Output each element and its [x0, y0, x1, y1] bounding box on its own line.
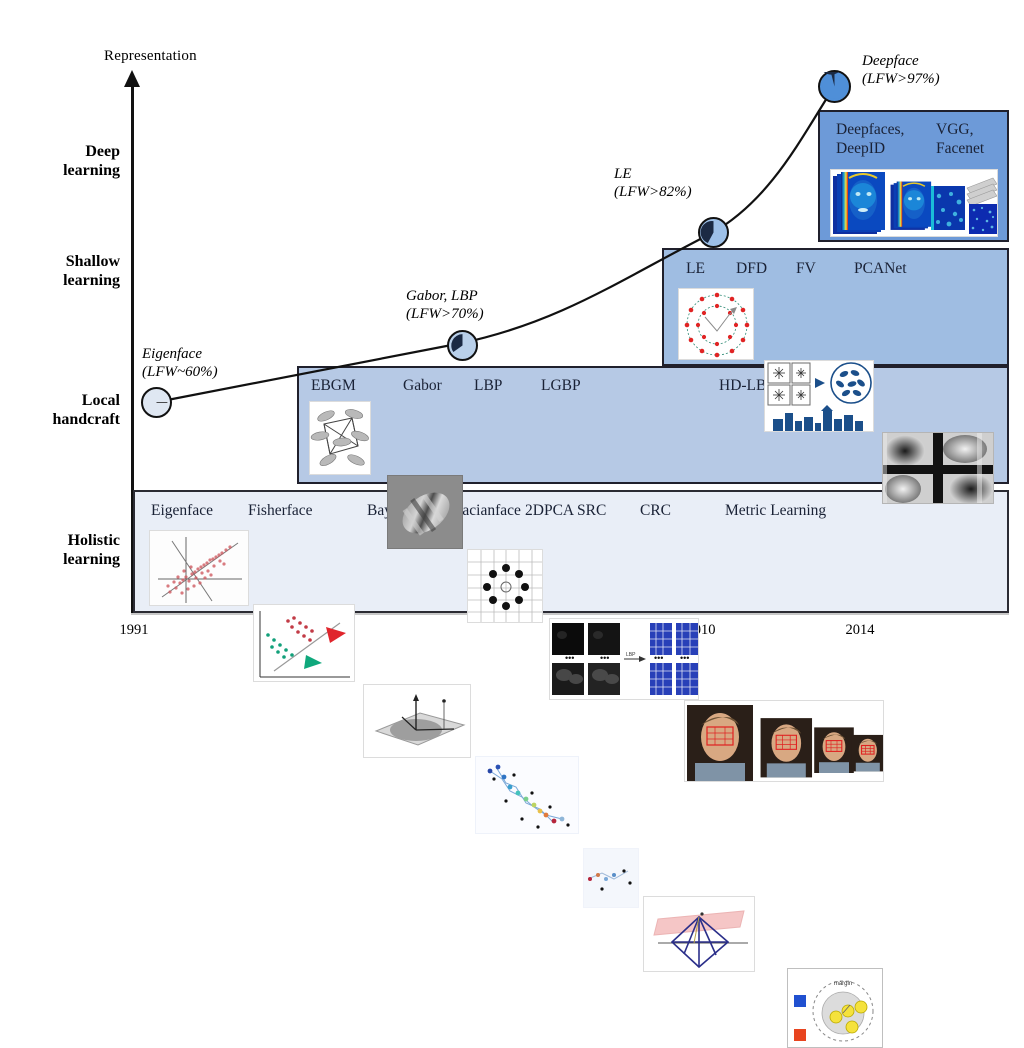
milestone-name-eigenface: Eigenface — [142, 345, 218, 363]
method-label-crc: CRC — [640, 502, 671, 520]
lgbp-maps-art: ••• ••• ••• ••• LBP — [550, 619, 699, 700]
deepface-node-fill — [820, 72, 849, 101]
panel-holistic-learning[interactable]: Eigenface Fisherface Bayes Laplacianface… — [133, 490, 1009, 613]
method-label-gabor: Gabor — [403, 377, 442, 395]
method-label-vgg-facenet: VGG, Facenet — [936, 120, 984, 159]
milestone-label-le: LE (LFW>82%) — [614, 165, 692, 201]
milestone-accuracy-eigenface: (LFW~60%) — [142, 363, 218, 381]
y-tick-deep-line2: learning — [10, 162, 120, 181]
method-label-metric-learning: Metric Learning — [725, 502, 826, 520]
milestone-node-gabor-lbp[interactable] — [447, 330, 478, 361]
lbp-ring-art — [468, 550, 543, 623]
method-label-2dpca: 2DPCA — [525, 502, 574, 520]
svg-text:margin: margin — [834, 981, 852, 987]
milestone-node-deepface[interactable] — [818, 70, 851, 103]
method-label-ebgm: EBGM — [311, 377, 356, 395]
thumbnail-lgbp-maps: ••• ••• ••• ••• LBP — [549, 618, 699, 700]
milestone-name-le: LE — [614, 165, 692, 183]
le-node-fill — [700, 219, 727, 246]
milestone-label-eigenface: Eigenface (LFW~60%) — [142, 345, 218, 381]
y-tick-deep: Deep learning — [10, 143, 120, 181]
pca-scatter-art — [150, 531, 249, 606]
method-label-lbp: LBP — [474, 377, 502, 395]
method-label-fv: FV — [796, 260, 816, 278]
x-tick-2014: 2014 — [820, 622, 900, 639]
x-tick-1991: 1991 — [94, 622, 174, 639]
thumbnail-lda-projection — [253, 604, 355, 682]
thumbnail-pca-scatter — [149, 530, 249, 606]
method-label-deepfaces-line2: DeepID — [836, 139, 904, 158]
method-label-vgg-line2: Facenet — [936, 139, 984, 158]
milestone-label-deepface: Deepface (LFW>97%) — [862, 52, 940, 88]
gabor-lbp-node-fill — [449, 332, 476, 359]
method-label-deepfaces-line1: Deepfaces, — [836, 120, 904, 139]
thumbnail-cnn-feature-maps — [830, 169, 998, 237]
y-tick-shallow: Shallow learning — [10, 253, 120, 291]
thumbnail-le-ring — [678, 288, 754, 360]
panel-shallow-learning[interactable]: LE DFD FV PCANet — [662, 248, 1009, 366]
thumbnail-pcanet-filters — [882, 432, 994, 504]
lda-projection-art — [254, 605, 355, 682]
method-label-src: SRC — [577, 502, 606, 520]
src-polytope-art — [644, 897, 755, 972]
milestone-accuracy-deepface: (LFW>97%) — [862, 70, 940, 88]
y-tick-holistic-line1: Holistic — [10, 532, 120, 551]
y-axis-title: Representation — [104, 48, 197, 65]
milestone-name-gabor-lbp: Gabor, LBP — [406, 287, 484, 305]
y-tick-shallow-line1: Shallow — [10, 253, 120, 272]
panel-deep-learning[interactable]: Deepfaces, DeepID VGG, Facenet — [818, 110, 1009, 242]
milestone-label-gabor-lbp: Gabor, LBP (LFW>70%) — [406, 287, 484, 323]
svg-text:LBP: LBP — [626, 652, 636, 658]
y-tick-shallow-line2: learning — [10, 272, 120, 291]
thumbnail-bayes-subspace — [363, 684, 471, 758]
milestone-accuracy-gabor-lbp: (LFW>70%) — [406, 305, 484, 323]
milestone-accuracy-le: (LFW>82%) — [614, 183, 692, 201]
thumbnail-2dpca — [583, 848, 639, 908]
method-label-vgg-line1: VGG, — [936, 120, 984, 139]
gabor-kernel-art — [388, 476, 463, 549]
thumbnail-hd-lbp-multiscale-faces — [684, 700, 884, 782]
eigenface-node-fill — [143, 389, 170, 416]
y-tick-holistic: Holistic learning — [10, 532, 120, 570]
le-sampling-ring-art — [679, 289, 754, 360]
timeline-figure: Representation Deep learning Shallow lea… — [0, 0, 1024, 655]
thumbnail-dfd-fv — [764, 360, 874, 432]
method-label-dfd: DFD — [736, 260, 767, 278]
metric-learning-art: margin — [788, 969, 883, 1048]
thumbnail-metric-learning: margin — [787, 968, 883, 1048]
thumbnail-ebgm-elastic-graph — [309, 401, 371, 475]
elastic-graph-art — [310, 402, 371, 475]
y-tick-local: Local handcraft — [10, 392, 120, 430]
milestone-node-eigenface[interactable] — [141, 387, 172, 418]
cnn-heatmap-faces-art — [831, 170, 998, 237]
y-tick-holistic-line2: learning — [10, 551, 120, 570]
twodpca-art — [584, 849, 639, 908]
thumbnail-src-polytope — [643, 896, 755, 972]
y-tick-deep-line1: Deep — [10, 143, 120, 162]
method-label-fisherface: Fisherface — [248, 502, 313, 520]
method-label-pcanet: PCANet — [854, 260, 907, 278]
y-tick-local-line2: handcraft — [10, 411, 120, 430]
pcanet-filter-art — [883, 433, 994, 504]
thumbnail-lbp-ring — [467, 549, 543, 623]
manifold-embedding-art — [476, 757, 579, 834]
milestone-name-deepface: Deepface — [862, 52, 940, 70]
hd-lbp-art — [685, 701, 884, 782]
milestone-node-le[interactable] — [698, 217, 729, 248]
method-label-le: LE — [686, 260, 705, 278]
method-label-deepfaces-deepid: Deepfaces, DeepID — [836, 120, 904, 159]
method-label-eigenface: Eigenface — [151, 502, 213, 520]
bayes-subspace-art — [364, 685, 471, 758]
method-label-lgbp: LGBP — [541, 377, 581, 395]
y-tick-local-line1: Local — [10, 392, 120, 411]
dfd-fv-art — [765, 361, 874, 432]
thumbnail-gabor-kernel — [387, 475, 463, 549]
thumbnail-laplacianface-manifold — [475, 756, 579, 834]
